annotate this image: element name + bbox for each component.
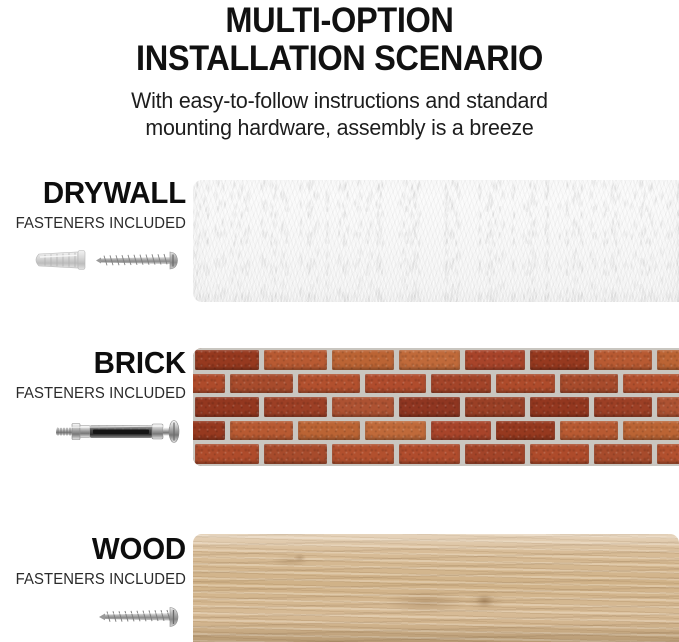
brick-unit — [264, 397, 327, 417]
brick-unit — [195, 444, 259, 464]
wood-screw-icon — [99, 608, 178, 627]
brick-unit — [193, 374, 225, 394]
brick-unit — [399, 350, 460, 370]
brick-unit — [365, 374, 426, 394]
brick-unit — [594, 444, 652, 464]
brick-unit — [431, 374, 491, 394]
material-name-wood: WOOD — [9, 532, 186, 566]
subtitle-line-2: mounting hardware, assembly is a breeze — [17, 114, 662, 141]
brick-unit — [530, 444, 589, 464]
material-name-brick: BRICK — [9, 346, 186, 380]
brick-unit — [332, 350, 394, 370]
sleeve-anchor-illustration — [0, 411, 186, 455]
brick-unit — [657, 444, 679, 464]
drywall-screw-icon — [96, 252, 178, 269]
subtitle-line-1: With easy-to-follow instructions and sta… — [17, 87, 662, 114]
brick-unit — [264, 350, 327, 370]
brick-unit — [195, 350, 259, 370]
drywall-label-column: DRYWALL FASTENERS INCLUDED — [0, 176, 186, 285]
brick-label-column: BRICK FASTENERS INCLUDED — [0, 346, 186, 455]
wood-label-column: WOOD FASTENERS INCLUDED — [0, 532, 186, 641]
brick-rows — [193, 348, 679, 466]
wood-hardware-group — [0, 597, 186, 641]
wood-screw-illustration — [0, 597, 186, 641]
brick-unit — [594, 397, 652, 417]
brick-unit — [496, 374, 555, 394]
brick-unit — [298, 421, 360, 441]
brick-unit — [623, 374, 679, 394]
brick-texture-swatch — [193, 348, 679, 466]
brick-unit — [560, 421, 618, 441]
material-name-drywall: DRYWALL — [9, 176, 186, 210]
brick-unit — [657, 397, 679, 417]
fasteners-note-wood: FASTENERS INCLUDED — [7, 566, 186, 589]
brick-unit — [465, 397, 525, 417]
brick-unit — [399, 444, 460, 464]
fasteners-note-drywall: FASTENERS INCLUDED — [7, 210, 186, 233]
fasteners-note-brick: FASTENERS INCLUDED — [7, 380, 186, 403]
brick-unit — [332, 444, 394, 464]
brick-hardware-group — [0, 411, 186, 455]
brick-unit — [623, 421, 679, 441]
brick-unit — [560, 374, 618, 394]
brick-unit — [530, 397, 589, 417]
brick-unit — [195, 397, 259, 417]
sleeve-anchor-icon — [56, 421, 179, 443]
brick-unit — [530, 350, 589, 370]
wood-texture-swatch — [193, 534, 679, 642]
brick-unit — [465, 350, 525, 370]
brick-unit — [332, 397, 394, 417]
brick-unit — [365, 421, 426, 441]
drywall-hardware-illustration — [0, 241, 186, 285]
header: MULTI-OPTION INSTALLATION SCENARIO With … — [0, 0, 679, 141]
brick-unit — [399, 397, 460, 417]
page-subtitle: With easy-to-follow instructions and sta… — [17, 78, 662, 141]
brick-unit — [264, 444, 327, 464]
brick-unit — [657, 350, 679, 370]
brick-unit — [465, 444, 525, 464]
brick-unit — [230, 374, 293, 394]
drywall-hardware-group — [0, 241, 186, 285]
drywall-anchor-icon — [36, 251, 85, 270]
brick-unit — [298, 374, 360, 394]
headline-line-2: INSTALLATION SCENARIO — [24, 40, 655, 78]
brick-unit — [594, 350, 652, 370]
brick-unit — [230, 421, 293, 441]
brick-unit — [496, 421, 555, 441]
page-title: MULTI-OPTION INSTALLATION SCENARIO — [24, 0, 655, 78]
brick-unit — [431, 421, 491, 441]
headline-line-1: MULTI-OPTION — [225, 1, 453, 40]
brick-unit — [193, 421, 225, 441]
drywall-texture-swatch — [193, 180, 679, 302]
